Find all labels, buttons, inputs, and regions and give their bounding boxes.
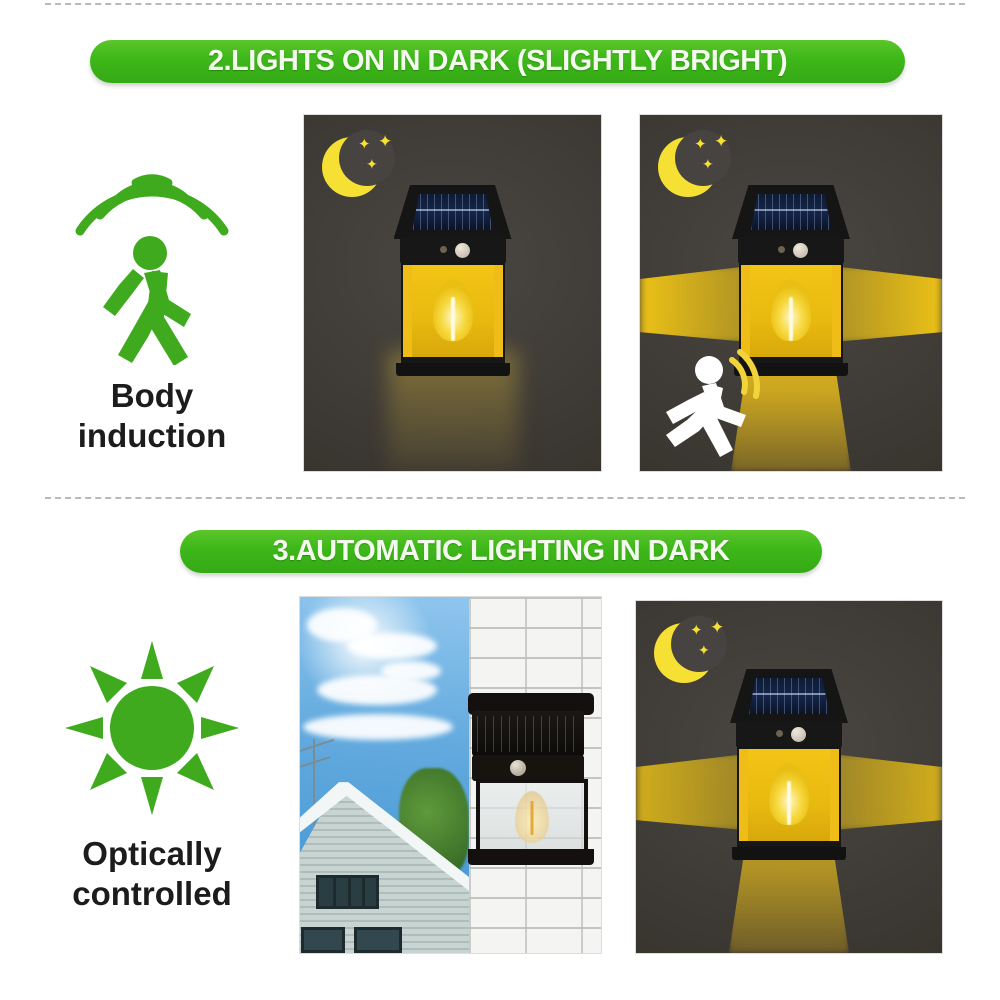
section-3-banner-label: 3.AUTOMATIC LIGHTING IN DARK <box>273 535 730 568</box>
pir-sensor-icon <box>793 243 808 258</box>
photo-lamp-bright-triggered: ✦ ✦ ✦ <box>639 114 943 472</box>
feature-optically-controlled: Optically controlled <box>27 628 277 915</box>
crescent-moon-icon: ✦ ✦ ✦ <box>654 617 728 691</box>
house-window <box>316 875 379 908</box>
solar-panel <box>472 711 584 757</box>
product-feature-page: 2.LIGHTS ON IN DARK (SLIGHTLY BRIGHT) <box>0 0 1000 1000</box>
bulb-icon <box>515 791 549 843</box>
lamp-glass <box>476 779 588 859</box>
indicator-led-icon <box>778 246 785 253</box>
lamp-housing <box>401 262 505 364</box>
pir-sensor-icon <box>510 760 526 776</box>
running-person-icon <box>654 348 764 453</box>
section-2-banner-label: 2.LIGHTS ON IN DARK (SLIGHTLY BRIGHT) <box>208 45 787 78</box>
photo-lamp-daylight-house <box>299 596 602 954</box>
solar-wall-lamp <box>729 669 849 864</box>
top-divider <box>45 3 965 5</box>
section-3-banner: 3.AUTOMATIC LIGHTING IN DARK <box>180 530 822 573</box>
house-window <box>301 927 345 954</box>
indicator-led-icon <box>776 730 783 737</box>
caption-line-1: Optically <box>27 834 277 874</box>
caption-line-2: controlled <box>27 874 277 914</box>
lamp-glass <box>748 749 830 841</box>
crescent-moon-icon: ✦ ✦ ✦ <box>322 131 396 205</box>
motion-sensor-walking-person-icon <box>27 140 277 370</box>
house <box>299 782 479 953</box>
solar-panel <box>413 194 493 230</box>
house-window <box>354 927 402 954</box>
bulb-icon <box>769 763 809 825</box>
caption-line-2: induction <box>27 416 277 456</box>
cloud-icon <box>347 633 437 659</box>
indicator-led-icon <box>440 246 447 253</box>
feature-optically-controlled-caption: Optically controlled <box>27 834 277 915</box>
crescent-moon-icon: ✦ ✦ ✦ <box>658 131 732 205</box>
feature-body-induction-caption: Body induction <box>27 376 277 457</box>
solar-wall-lamp <box>393 185 513 380</box>
section-2-banner: 2.LIGHTS ON IN DARK (SLIGHTLY BRIGHT) <box>90 40 905 83</box>
photo-lamp-dim-night: ✦ ✦ ✦ <box>303 114 602 472</box>
sun-icon <box>27 628 277 828</box>
lamp-base <box>468 849 594 865</box>
lamp-glass <box>750 265 832 357</box>
lamp-base <box>396 363 510 376</box>
solar-panel <box>749 678 829 714</box>
sensor-bar <box>736 721 842 748</box>
middle-divider <box>45 497 965 499</box>
sensor-bar <box>400 237 506 264</box>
cloud-icon <box>303 714 453 740</box>
sensor-bar <box>738 237 844 264</box>
feature-body-induction: Body induction <box>27 140 277 457</box>
bulb-icon <box>771 279 811 341</box>
cloud-icon <box>381 661 441 681</box>
caption-line-1: Body <box>27 376 277 416</box>
sensor-bar <box>472 755 584 781</box>
lamp-glass <box>412 265 494 357</box>
solar-panel <box>751 194 831 230</box>
pir-sensor-icon <box>791 727 806 742</box>
lamp-base <box>732 847 846 860</box>
motion-arc-icon <box>732 352 757 396</box>
photo-lamp-auto-night: ✦ ✦ ✦ <box>635 600 943 954</box>
lamp-housing <box>737 746 841 848</box>
pir-sensor-icon <box>455 243 470 258</box>
bulb-icon <box>433 279 473 341</box>
solar-wall-lamp <box>466 693 596 873</box>
sky-background <box>300 597 469 953</box>
white-brick-wall <box>469 597 601 953</box>
